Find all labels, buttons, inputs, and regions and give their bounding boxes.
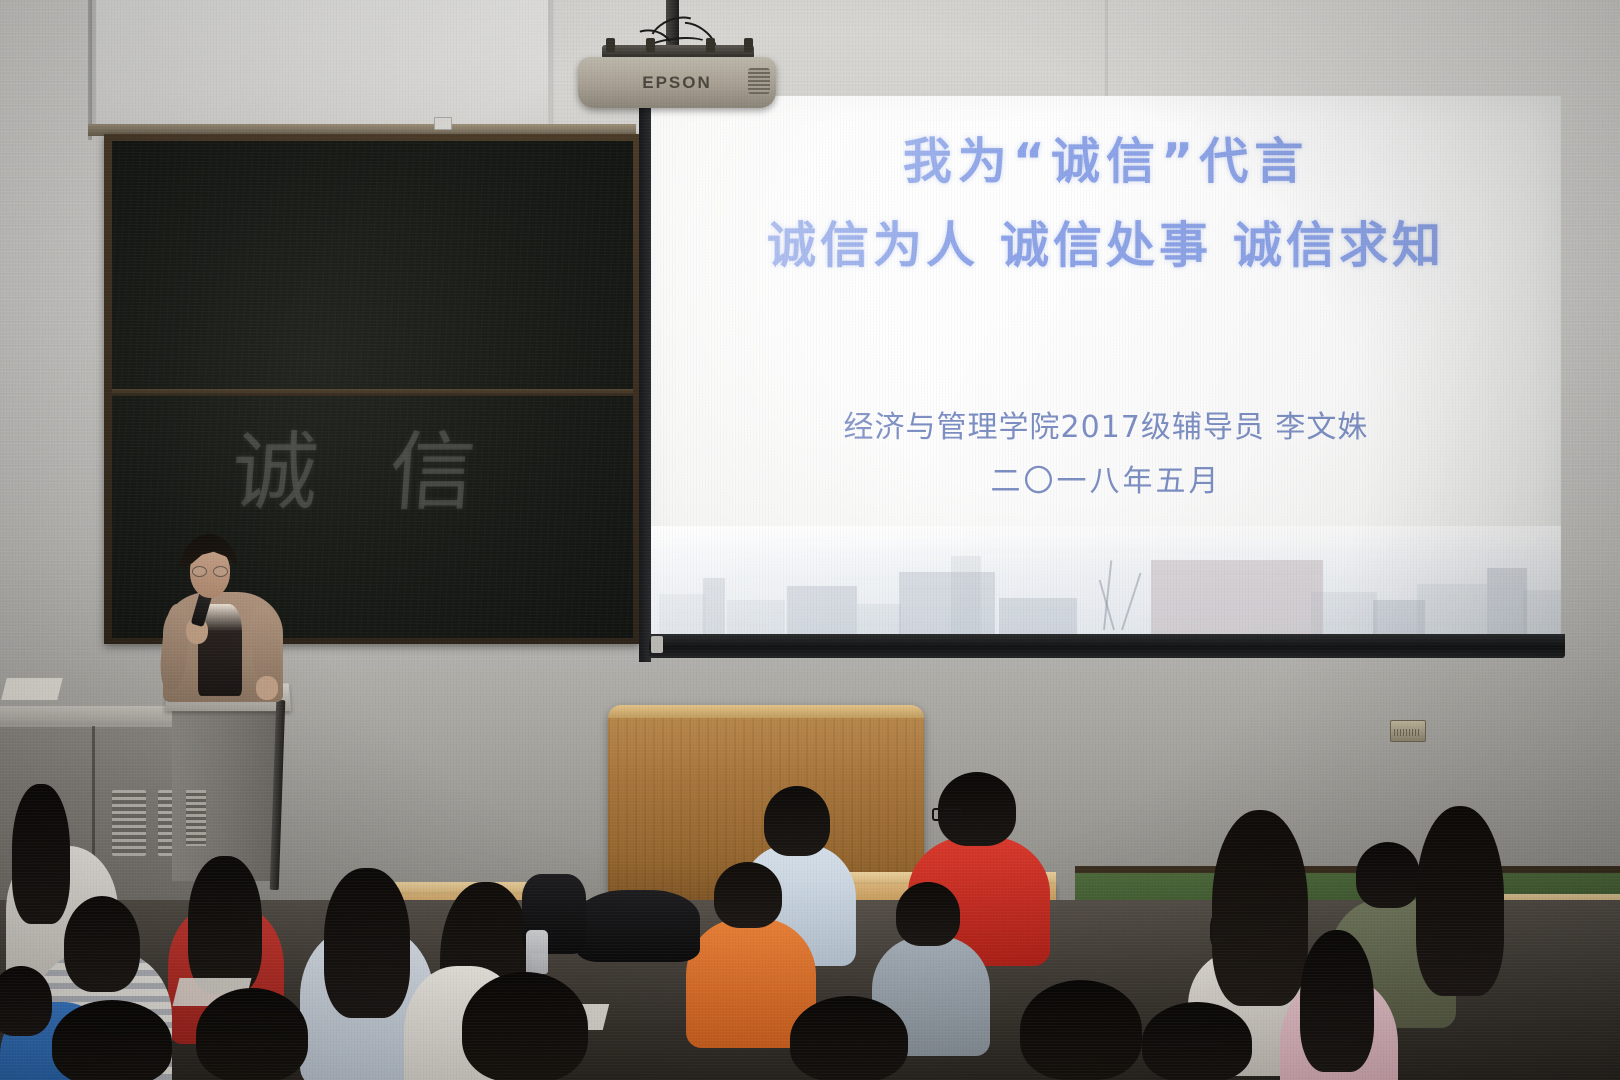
presenter-right-hand: [256, 676, 278, 700]
projector-foot: [646, 38, 655, 52]
backpack: [576, 890, 700, 962]
student-hair: [714, 862, 782, 928]
glasses-icon: [932, 808, 962, 821]
projection-screen: 我为“诚信”代言 诚信为人 诚信处事 诚信求知 经济与管理学院2017级辅导员 …: [639, 96, 1561, 662]
blackboard: 诚 信: [104, 134, 640, 644]
stacked-papers: [1, 678, 62, 700]
student-hair: [896, 882, 960, 946]
projector-foot: [606, 38, 615, 52]
student-hair: [196, 988, 308, 1080]
projector-vent: [748, 68, 770, 94]
screen-bar-knob: [651, 636, 663, 653]
student-hair: [1142, 1002, 1252, 1080]
student-hair: [12, 784, 70, 924]
projector-brand-label: EPSON: [578, 73, 776, 93]
whiteboard-clip: [434, 117, 452, 130]
blackboard-divider-rail: [112, 389, 633, 396]
wall-switch-plate[interactable]: [1390, 720, 1426, 742]
lecture-hall-photo: 诚 信 我为“诚信”代言 诚信为人 诚信处事 诚信求知 经济与管理学院2017级…: [0, 0, 1620, 1080]
screen-left-border: [639, 96, 651, 662]
student-hair: [790, 996, 908, 1080]
lectern-vent: [186, 790, 206, 846]
student-hair: [1356, 842, 1420, 908]
projector-foot: [706, 38, 715, 52]
student-hair: [764, 786, 830, 856]
screen-surface: 我为“诚信”代言 诚信为人 诚信处事 诚信求知 经济与管理学院2017级辅导员 …: [651, 96, 1561, 634]
student-hair: [52, 1000, 172, 1080]
student-hair: [462, 972, 588, 1080]
teacher-desk-top-edge: [608, 705, 924, 718]
student-hair: [324, 868, 410, 1018]
student-hair: [636, 986, 768, 1080]
student-hair: [188, 856, 262, 994]
student-hair: [64, 896, 140, 992]
student-hair: [1020, 980, 1142, 1080]
glasses-icon: [192, 566, 228, 575]
whiteboard-panel: [92, 0, 552, 124]
student-hair: [1416, 806, 1504, 996]
student-hair: [1212, 810, 1308, 1006]
projector-icon: EPSON: [578, 57, 776, 108]
projector-foot: [744, 38, 753, 52]
water-bottle: [526, 930, 548, 974]
screen-glare: [651, 96, 1561, 634]
student-hair: [1300, 930, 1374, 1072]
cabinet-vent-louver: [112, 790, 146, 856]
screen-bottom-bar: [649, 634, 1565, 658]
